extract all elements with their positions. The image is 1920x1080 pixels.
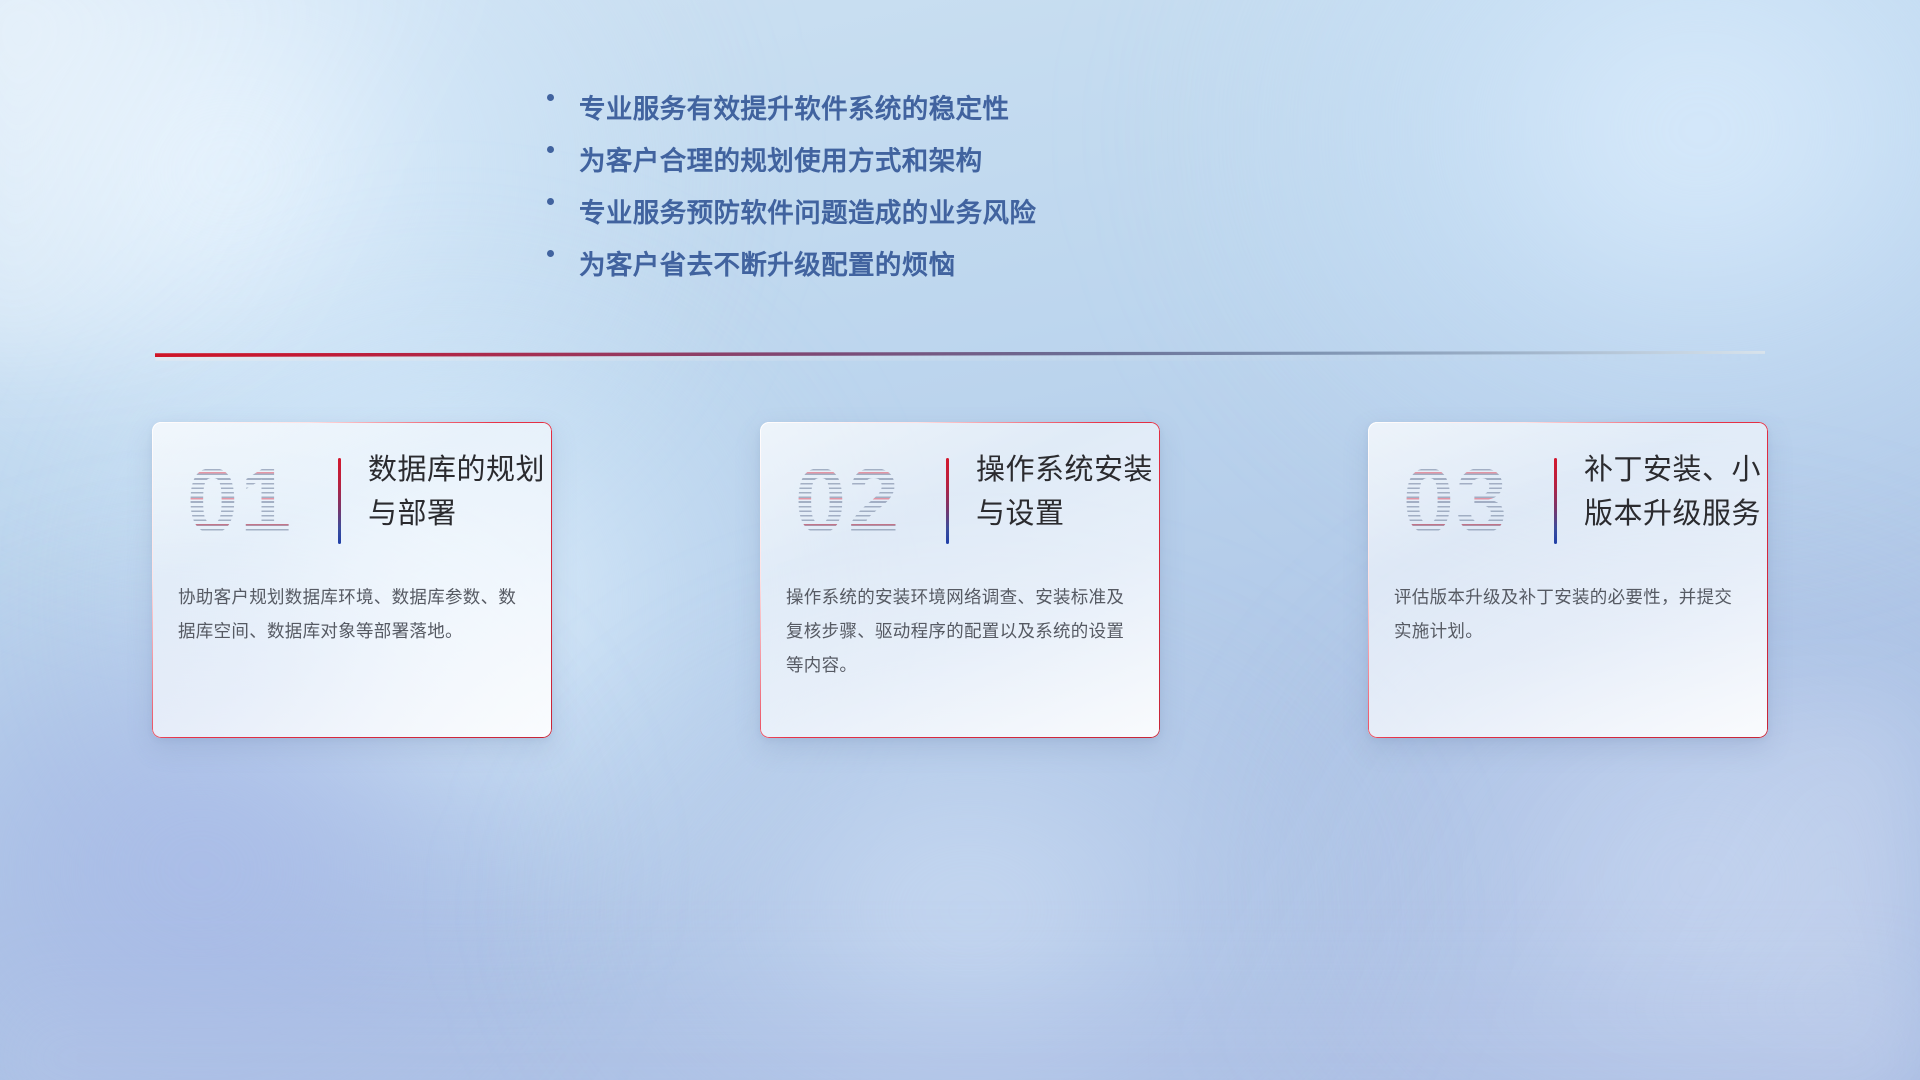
card-body-text: 协助客户规划数据库环境、数据库参数、数据库空间、数据库对象等部署落地。 [178,580,530,648]
list-item: 为客户合理的规划使用方式和架构 [541,144,1441,196]
service-card-group: 01 01 数据库的规划与部署 协助客户规划数据库环境、数据库参数、数据库空间、… [152,422,1768,738]
service-card[interactable]: 02 02 操作系统安装与设置 操作系统的安装环境网络调查、安装标准及复核步骤、… [760,422,1160,738]
background-bottom-band [0,940,1920,1080]
card-header: 01 01 数据库的规划与部署 [152,442,552,562]
card-accent-divider [946,458,949,544]
card-title: 操作系统安装与设置 [976,448,1154,536]
bullet-text: 为客户合理的规划使用方式和架构 [579,144,983,178]
bullet-dot-icon [541,92,579,101]
card-number-watermark-tint: 02 [782,446,914,556]
card-number-watermark-tint: 01 [174,446,306,556]
card-title: 补丁安装、小版本升级服务 [1584,448,1762,536]
bullet-text: 专业服务有效提升软件系统的稳定性 [579,92,1009,126]
card-accent-divider [338,458,341,544]
bullet-dot-icon [541,248,579,257]
card-accent-divider [1554,458,1557,544]
card-body-text: 评估版本升级及补丁安装的必要性，并提交实施计划。 [1394,580,1746,648]
card-header: 03 03 补丁安装、小版本升级服务 [1368,442,1768,562]
service-card[interactable]: 01 01 数据库的规划与部署 协助客户规划数据库环境、数据库参数、数据库空间、… [152,422,552,738]
benefits-bullet-list: 专业服务有效提升软件系统的稳定性 为客户合理的规划使用方式和架构 专业服务预防软… [541,92,1441,300]
bullet-text: 为客户省去不断升级配置的烦恼 [579,248,956,282]
service-card[interactable]: 03 03 补丁安装、小版本升级服务 评估版本升级及补丁安装的必要性，并提交实施… [1368,422,1768,738]
list-item: 专业服务有效提升软件系统的稳定性 [541,92,1441,144]
list-item: 为客户省去不断升级配置的烦恼 [541,248,1441,300]
card-number-watermark-tint: 03 [1390,446,1522,556]
bullet-dot-icon [541,196,579,205]
bullet-dot-icon [541,144,579,153]
card-body-text: 操作系统的安装环境网络调查、安装标准及复核步骤、驱动程序的配置以及系统的设置等内… [786,580,1138,682]
list-item: 专业服务预防软件问题造成的业务风险 [541,196,1441,248]
card-title: 数据库的规划与部署 [368,448,546,536]
section-divider [155,348,1765,362]
bullet-text: 专业服务预防软件问题造成的业务风险 [579,196,1036,230]
card-header: 02 02 操作系统安装与设置 [760,442,1160,562]
